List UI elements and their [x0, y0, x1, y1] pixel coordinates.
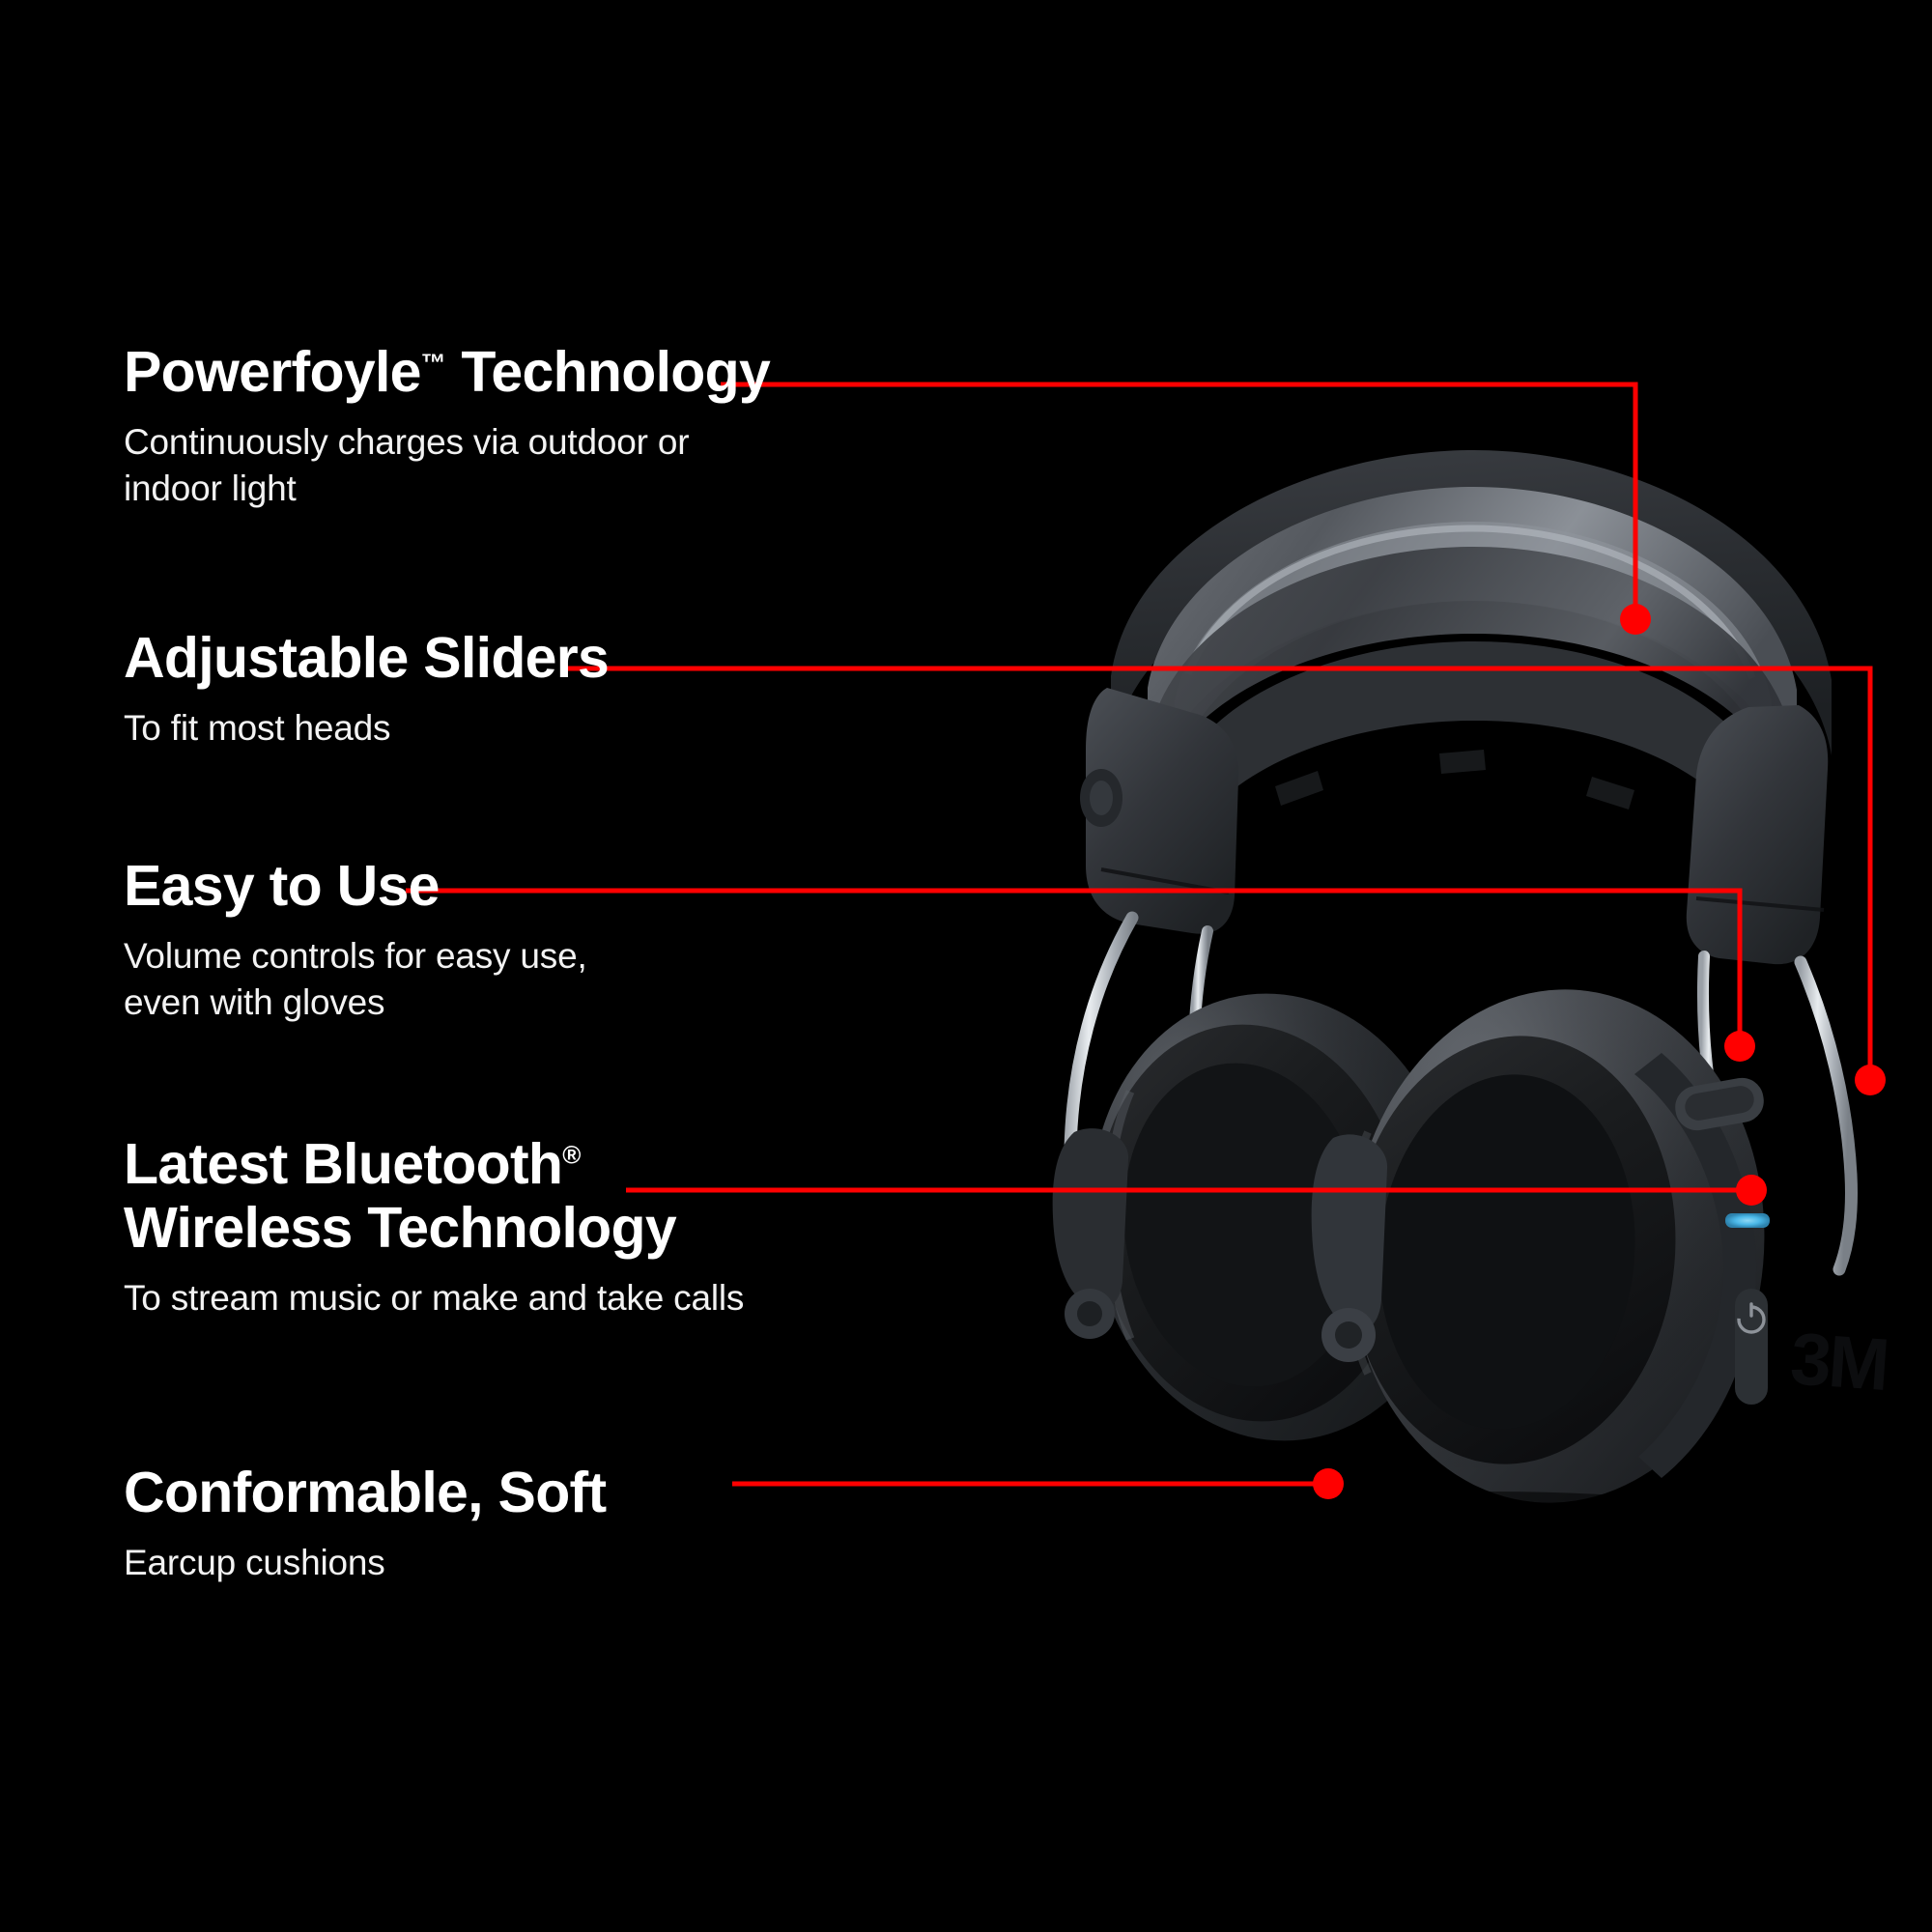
registered-trademark-icon: ®: [562, 1140, 581, 1169]
feature-title-adjustable-sliders: Adjustable Sliders: [124, 626, 609, 690]
feature-description-adjustable-sliders: To fit most heads: [124, 705, 609, 752]
feature-title-text: Easy to Use: [124, 854, 440, 918]
bluetooth-status-led: [1725, 1213, 1770, 1228]
feature-title-text: Conformable, Soft: [124, 1461, 606, 1524]
infographic-canvas: 3M Powerfoyle™ Technology: [0, 0, 1932, 1932]
product-shadow: [1246, 1492, 1729, 1542]
inner-strap-vent-mid: [1439, 750, 1486, 774]
feature-easy-to-use: Easy to Use Volume controls for easy use…: [124, 854, 587, 1026]
feature-title-latest-bluetooth: Latest Bluetooth® Wireless Technology: [124, 1132, 744, 1260]
feature-latest-bluetooth: Latest Bluetooth® Wireless Technology To…: [124, 1132, 744, 1321]
left-cup-arm: [1053, 1128, 1128, 1309]
feature-powerfoyle: Powerfoyle™ Technology Continuously char…: [124, 340, 770, 512]
inner-strap-vent-left: [1275, 771, 1323, 806]
inner-strap-vent-right: [1586, 777, 1634, 810]
left-arm-pivot-inner: [1077, 1301, 1102, 1326]
product-image: 3M: [985, 415, 1932, 1565]
feature-title-text: Powerfoyle: [124, 340, 421, 404]
feature-title-text: Adjustable Sliders: [124, 626, 609, 690]
feature-title-easy-to-use: Easy to Use: [124, 854, 587, 918]
feature-description-conformable-soft: Earcup cushions: [124, 1540, 606, 1586]
left-hinge-pivot-ring: [1090, 781, 1113, 815]
feature-title-tail: Technology: [446, 340, 770, 404]
slider-wire-right-outer: [1801, 962, 1852, 1269]
feature-description-easy-to-use: Volume controls for easy use, even with …: [124, 933, 587, 1026]
feature-description-powerfoyle: Continuously charges via outdoor or indo…: [124, 419, 770, 512]
trademark-icon: ™: [421, 348, 446, 377]
right-arm-pivot-inner: [1335, 1321, 1362, 1349]
feature-title-conformable-soft: Conformable, Soft: [124, 1461, 606, 1524]
feature-conformable-soft: Conformable, Soft Earcup cushions: [124, 1461, 606, 1586]
feature-title-text: Latest Bluetooth: [124, 1132, 562, 1196]
feature-title-powerfoyle: Powerfoyle™ Technology: [124, 340, 770, 404]
feature-description-latest-bluetooth: To stream music or make and take calls: [124, 1275, 744, 1321]
feature-adjustable-sliders: Adjustable Sliders To fit most heads: [124, 626, 609, 752]
brand-logo-3m: 3M: [1788, 1318, 1889, 1406]
right-hinge-block: [1687, 705, 1828, 964]
feature-title-tail: Wireless Technology: [124, 1196, 676, 1260]
